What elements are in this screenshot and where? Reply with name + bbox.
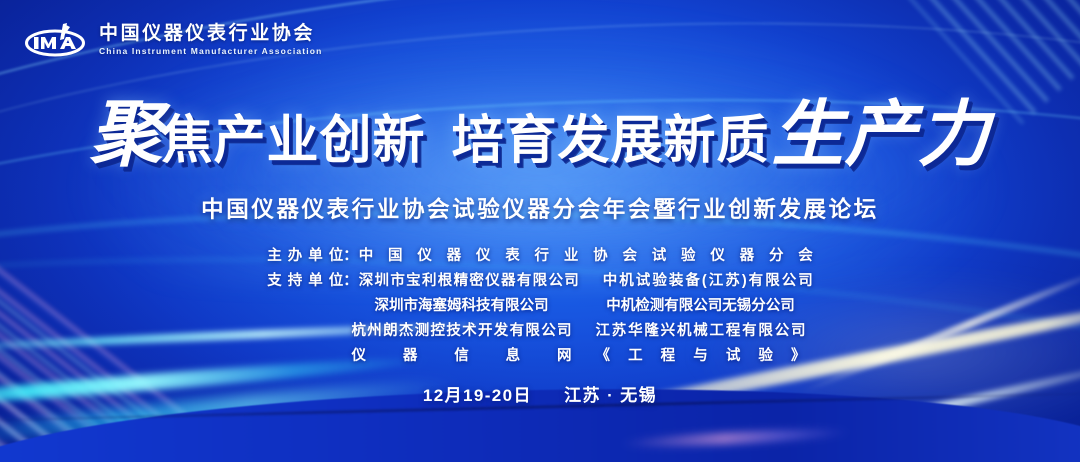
footer-info: 12月19-20日 江苏 · 无锡 [0, 381, 1080, 406]
headline-part2-mid: 培育发展新质 [452, 115, 770, 170]
logo-english-name: China Instrument Manufacturer Associatio… [99, 47, 322, 56]
support-right-4: 《工程与试验》 [596, 344, 806, 365]
headline-part1-big: 聚 [89, 98, 162, 170]
support-right-1: 中机试验装备(江苏)有限公司 [603, 269, 813, 290]
support-right-3: 江苏华隆兴机械工程有限公司 [596, 319, 806, 340]
host-label: 主办单位 [267, 244, 343, 265]
support-left-2: 深圳市海塞姆科技有限公司 [352, 294, 572, 315]
support-row-2: 深圳市海塞姆科技有限公司 中机检测有限公司无锡分公司 [275, 294, 806, 315]
logo-chinese-name: 中国仪器仪表行业协会 [99, 24, 322, 43]
support-left-1: 深圳市宝利根精密仪器有限公司 [359, 269, 579, 290]
headline-part1-mid: 焦产业创新 [160, 115, 425, 170]
organizer-block: 主办单位 ： 中国仪器仪表行业协会试验仪器分会 支持单位 ： 深圳市宝利根精密仪… [0, 244, 1080, 365]
event-location: 江苏 · 无锡 [564, 386, 657, 405]
event-date: 12月19-20日 [423, 386, 532, 405]
support-left-3: 杭州朗杰测控技术开发有限公司 [352, 319, 572, 340]
subtitle: 中国仪器仪表行业协会试验仪器分会年会暨行业创新发展论坛 [0, 192, 1080, 224]
support-left-4: 仪器信息网 [352, 344, 572, 365]
association-logo: 中国仪器仪表行业协会 China Instrument Manufacturer… [24, 22, 322, 58]
support-row-1: 支持单位 ： 深圳市宝利根精密仪器有限公司 中机试验装备(江苏)有限公司 [267, 269, 813, 290]
support-right-2: 中机检测有限公司无锡分公司 [596, 294, 806, 315]
support-colon: ： [343, 269, 358, 290]
support-label: 支持单位 [267, 269, 343, 290]
headline-part2-big: 生产力 [772, 98, 991, 170]
conference-banner: 中国仪器仪表行业协会 China Instrument Manufacturer… [0, 0, 1080, 462]
host-colon: ： [343, 244, 358, 265]
ima-logo-mark [24, 22, 90, 58]
support-row-4: 仪器信息网 《工程与试验》 [275, 344, 806, 365]
headline: 聚 焦产业创新 培育发展新质 生产力 [0, 98, 1080, 170]
logo-text-group: 中国仪器仪表行业协会 China Instrument Manufacturer… [99, 24, 322, 56]
support-row-3: 杭州朗杰测控技术开发有限公司 江苏华隆兴机械工程有限公司 [275, 319, 806, 340]
host-value: 中国仪器仪表行业协会试验仪器分会 [359, 244, 813, 265]
host-row: 主办单位 ： 中国仪器仪表行业协会试验仪器分会 [267, 244, 813, 265]
